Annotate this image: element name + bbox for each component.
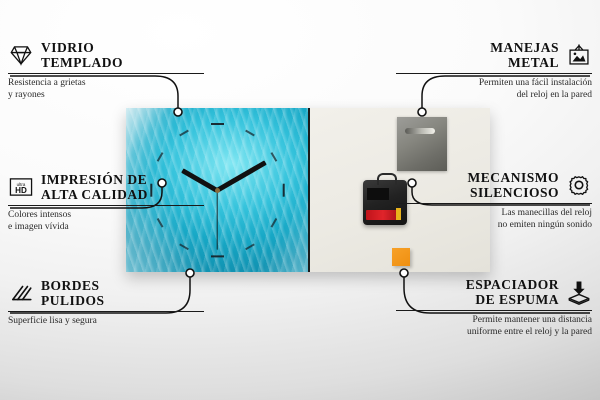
- feature-title-line: IMPRESIÓN DE: [41, 172, 148, 187]
- clock-tick: [282, 184, 284, 197]
- feature-description: Las manecillas del reloj no emiten ningú…: [396, 208, 592, 231]
- feature-description: Permite mantener una distancia uniforme …: [396, 315, 592, 338]
- feature-title-line: BORDES: [41, 278, 105, 293]
- clock-tick: [245, 244, 255, 251]
- clock-minute-hand: [216, 160, 267, 192]
- feature-divider: [8, 205, 204, 206]
- diamond-icon: [8, 42, 34, 68]
- battery: [366, 210, 400, 220]
- feature-title: VIDRIO TEMPLADO: [41, 40, 123, 70]
- feature-mecanismo-silencioso: MECANISMO SILENCIOSO Las manecillas del …: [396, 170, 592, 231]
- feature-title-line: METAL: [490, 55, 559, 70]
- clock-tick: [157, 152, 164, 162]
- feature-description-line: Colores intensos: [8, 210, 204, 222]
- clock-tick: [211, 123, 224, 125]
- feature-description-line: Las manecillas del reloj: [396, 208, 592, 220]
- feature-header: ESPACIADOR DE ESPUMA: [396, 277, 592, 307]
- gear-icon: [566, 172, 592, 198]
- feature-bordes-pulidos: BORDES PULIDOS Superficie lisa y segura: [8, 278, 204, 328]
- feature-description-line: del reloj en la pared: [396, 90, 592, 102]
- feature-espaciador-espuma: ESPACIADOR DE ESPUMA Permite mantener un…: [396, 277, 592, 338]
- feature-title: MECANISMO SILENCIOSO: [468, 170, 560, 200]
- metal-hanger: [397, 117, 447, 171]
- feature-description: Colores intensos e imagen vívida: [8, 210, 204, 233]
- feature-title: MANEJAS METAL: [490, 40, 559, 70]
- foam-spacer: [392, 248, 410, 266]
- feature-description-line: no emiten ningún sonido: [396, 220, 592, 232]
- foam-spacer-icon: [566, 279, 592, 305]
- feature-title: BORDES PULIDOS: [41, 278, 105, 308]
- feature-description-line: Permite mantener una distancia: [396, 315, 592, 327]
- feature-divider: [396, 310, 592, 311]
- feature-description: Resistencia a grietas y rayones: [8, 78, 204, 101]
- polished-edges-icon: [8, 280, 34, 306]
- feature-header: MANEJAS METAL: [396, 40, 592, 70]
- feature-manejas-metal: MANEJAS METAL Permiten una fácil instala…: [396, 40, 592, 101]
- feature-title-line: MANEJAS: [490, 40, 559, 55]
- clock-tick: [211, 255, 224, 257]
- feature-description-line: Superficie lisa y segura: [8, 316, 204, 328]
- feature-title: ESPACIADOR DE ESPUMA: [466, 277, 559, 307]
- feature-title-line: TEMPLADO: [41, 55, 123, 70]
- hanger-slot: [405, 128, 435, 134]
- feature-description: Permiten una fácil instalación del reloj…: [396, 78, 592, 101]
- feature-header: BORDES PULIDOS: [8, 278, 204, 308]
- feature-title-line: ESPACIADOR: [466, 277, 559, 292]
- feature-description-line: y rayones: [8, 90, 204, 102]
- clock-pivot: [215, 188, 220, 193]
- picture-frame-icon: [566, 42, 592, 68]
- clock-tick: [271, 152, 278, 162]
- clock-second-hand: [216, 190, 217, 250]
- feature-header: VIDRIO TEMPLADO: [8, 40, 204, 70]
- mechanism-loop: [377, 173, 397, 185]
- feature-title-line: SILENCIOSO: [468, 185, 560, 200]
- clock-tick: [271, 218, 278, 228]
- feature-title-line: PULIDOS: [41, 293, 105, 308]
- feature-title-line: VIDRIO: [41, 40, 123, 55]
- clock-tick: [179, 129, 189, 136]
- feature-title: IMPRESIÓN DE ALTA CALIDAD: [41, 172, 148, 202]
- feature-title-line: MECANISMO: [468, 170, 560, 185]
- ultra-hd-icon: ultra HD: [8, 174, 34, 200]
- mechanism-block: [367, 188, 389, 200]
- feature-divider: [396, 73, 592, 74]
- feature-description-line: e imagen vívida: [8, 222, 204, 234]
- feature-header: ultra HD IMPRESIÓN DE ALTA CALIDAD: [8, 172, 204, 202]
- feature-title-line: DE ESPUMA: [466, 292, 559, 307]
- feature-vidrio-templado: VIDRIO TEMPLADO Resistencia a grietas y …: [8, 40, 204, 101]
- clock-tick: [245, 129, 255, 136]
- feature-description-line: Permiten una fácil instalación: [396, 78, 592, 90]
- feature-description: Superficie lisa y segura: [8, 316, 204, 328]
- feature-divider: [8, 73, 204, 74]
- feature-description-line: Resistencia a grietas: [8, 78, 204, 90]
- feature-header: MECANISMO SILENCIOSO: [396, 170, 592, 200]
- infographic-canvas: VIDRIO TEMPLADO Resistencia a grietas y …: [0, 0, 600, 400]
- feature-divider: [8, 311, 204, 312]
- feature-impresion-alta-calidad: ultra HD IMPRESIÓN DE ALTA CALIDAD Color…: [8, 172, 204, 233]
- feature-divider: [396, 203, 592, 204]
- svg-text:HD: HD: [15, 186, 27, 195]
- clock-tick: [179, 244, 189, 251]
- feature-title-line: ALTA CALIDAD: [41, 187, 148, 202]
- feature-description-line: uniforme entre el reloj y la pared: [396, 327, 592, 339]
